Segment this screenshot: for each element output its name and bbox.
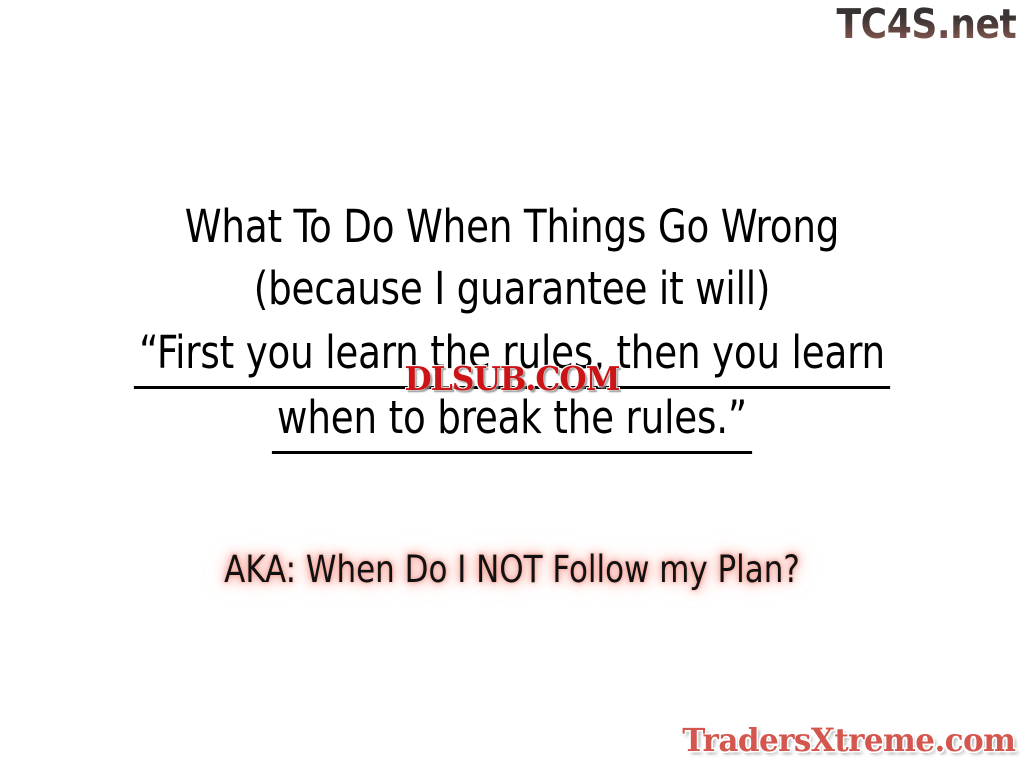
slide-canvas: TC4S.net What To Do When Things Go Wrong… bbox=[0, 0, 1024, 768]
headline-line-1: What To Do When Things Go Wrong bbox=[41, 196, 983, 258]
subheading-aka: AKA: When Do I NOT Follow my Plan? bbox=[36, 548, 988, 592]
headline-block: What To Do When Things Go Wrong (because… bbox=[0, 196, 1024, 450]
headline-line-2: (because I guarantee it will) bbox=[41, 258, 983, 320]
watermark-dlsub: DLSUB.COM bbox=[404, 362, 619, 395]
watermark-tc4s: TC4S.net bbox=[836, 2, 1016, 46]
watermark-tradersxtreme: TradersXtreme.com bbox=[682, 724, 1015, 756]
